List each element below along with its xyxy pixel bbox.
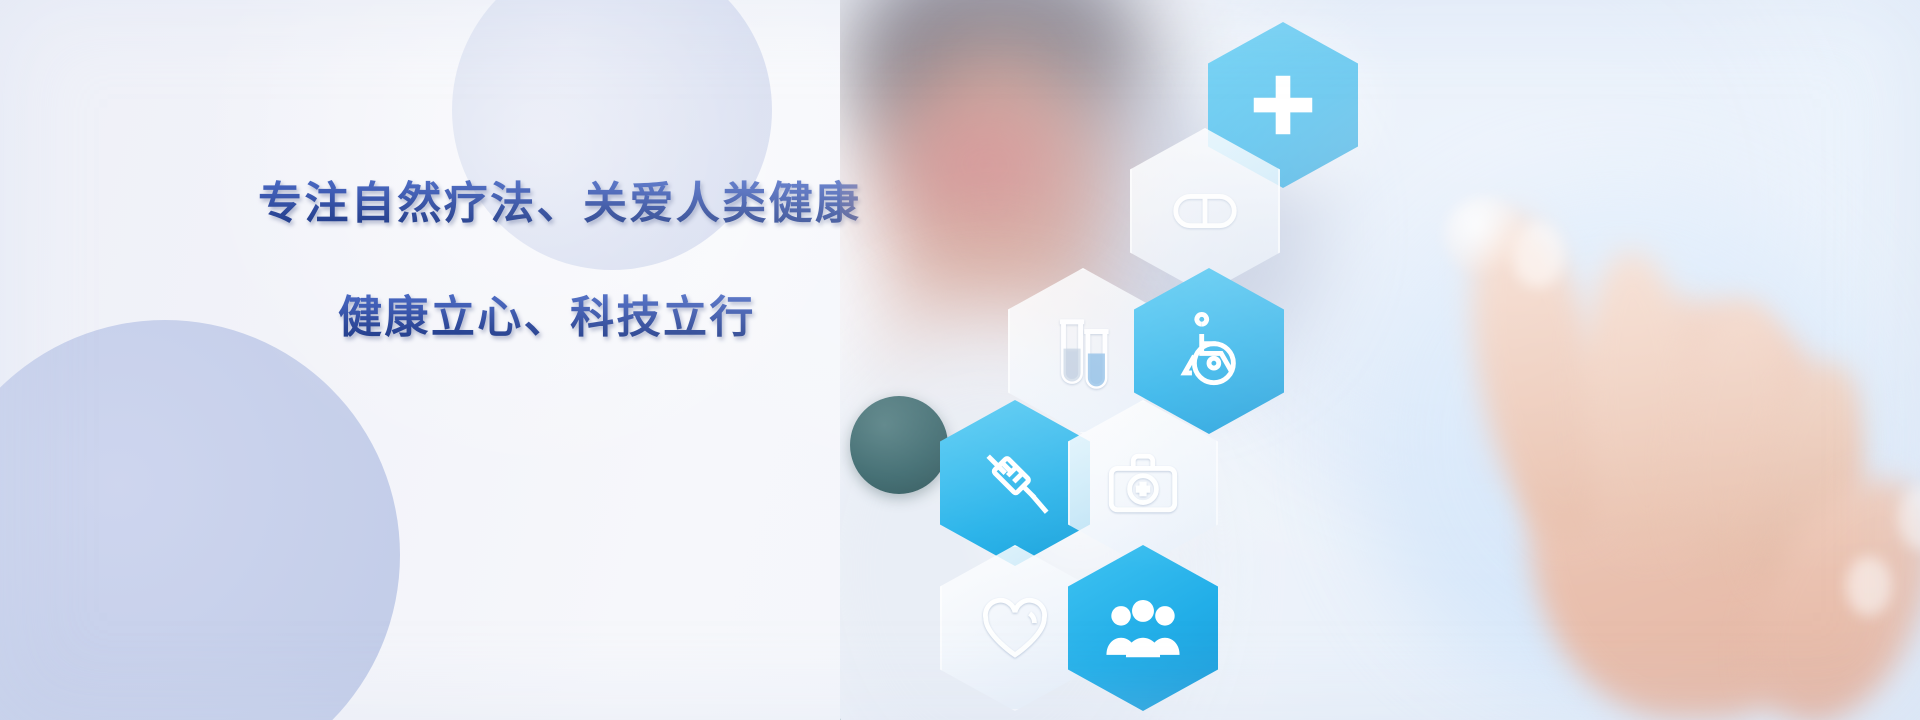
vignette-overlay (0, 0, 1920, 720)
health-banner: 专注自然疗法、关爱人类健康 健康立心、科技立行 (0, 0, 1920, 720)
